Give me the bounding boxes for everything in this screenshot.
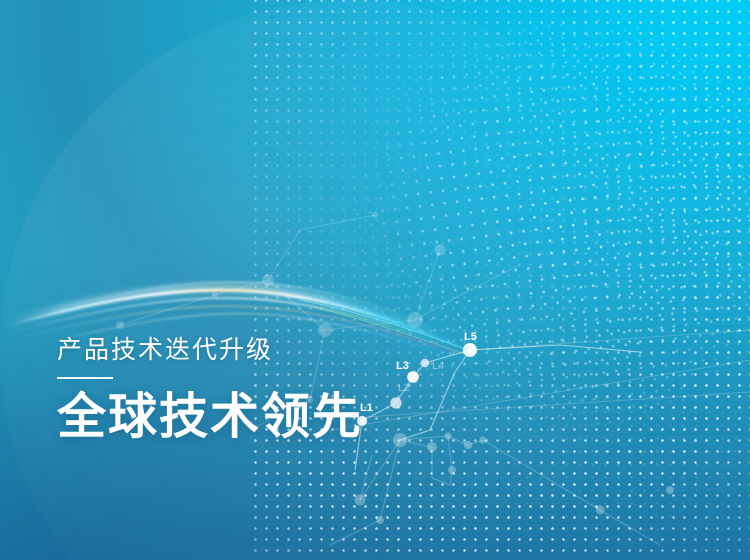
banner-title: 全球技术领先 <box>57 391 457 445</box>
background-dot-field <box>430 380 750 560</box>
headline-block: 产品技术迭代升级 全球技术领先 <box>57 336 457 445</box>
banner-subtitle: 产品技术迭代升级 <box>57 336 457 365</box>
title-divider <box>57 377 113 379</box>
hero-banner: L1L2L3L4L5 <box>0 0 750 560</box>
